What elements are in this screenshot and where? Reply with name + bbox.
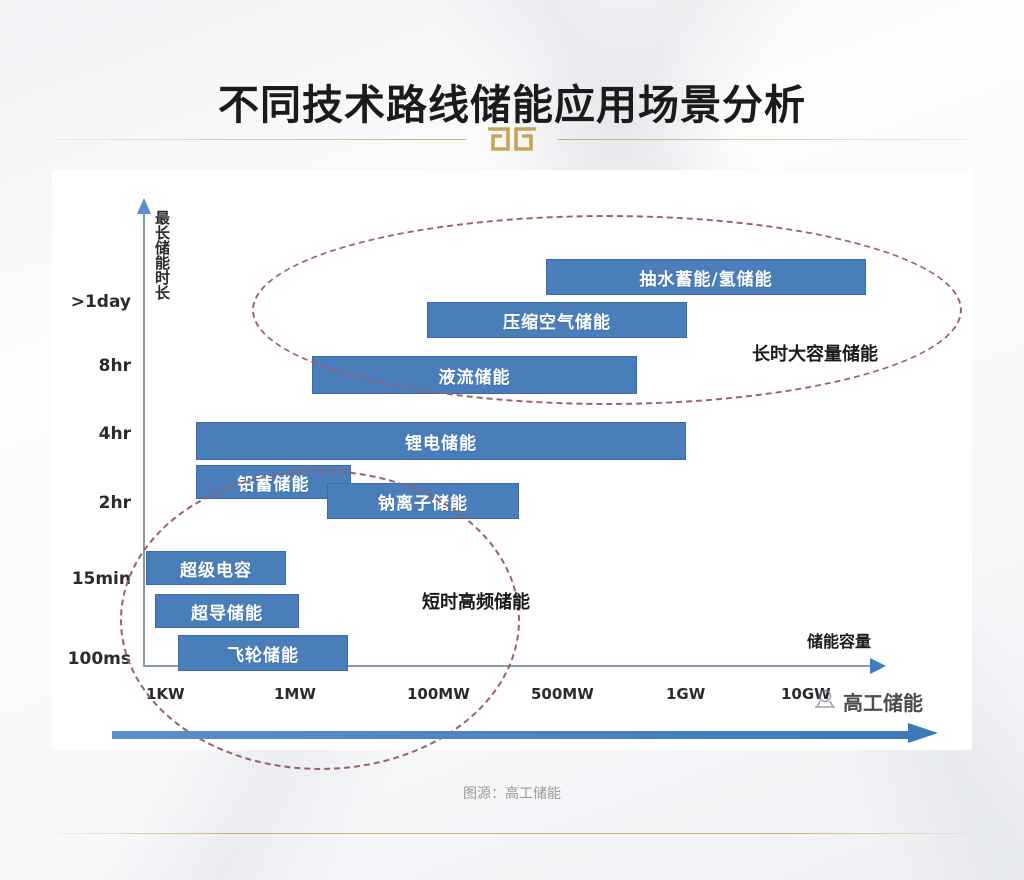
- footer-divider: [55, 833, 969, 834]
- x-tick-label: 500MW: [531, 685, 594, 703]
- x-tick-label: 1KW: [146, 685, 185, 703]
- y-tick-label: 100ms: [51, 649, 131, 669]
- x-tick-label: 1MW: [274, 685, 316, 703]
- source-caption: 图源：高工储能: [0, 783, 1024, 803]
- x-axis-arrow-icon: [870, 658, 886, 674]
- capacity-arrow-line: [112, 731, 912, 739]
- bar-sodium-ion[interactable]: 钠离子储能: [327, 483, 519, 519]
- y-tick-label: >1day: [51, 292, 131, 312]
- y-tick-label: 4hr: [51, 424, 131, 444]
- capacity-arrow-head-icon: [908, 723, 938, 743]
- greek-key-ornament-icon: [484, 125, 540, 153]
- annotation-long-duration: 长时大容量储能: [752, 340, 878, 366]
- divider-rule-left: [55, 139, 466, 140]
- chart-panel: 最长储能时长 储能容量 >1day 8hr 4hr 2hr 15min 100m…: [52, 170, 972, 750]
- bar-pumped-hydro-hydrogen[interactable]: 抽水蓄能/氢储能: [546, 259, 866, 295]
- y-axis-title: 最长储能时长: [152, 210, 172, 300]
- bar-supercapacitor[interactable]: 超级电容: [146, 551, 286, 585]
- x-tick-label: 1GW: [666, 685, 705, 703]
- capacity-direction-arrow: [112, 725, 942, 745]
- x-axis-title: 储能容量: [807, 628, 871, 652]
- watermark-text: 高工储能: [843, 687, 923, 716]
- gaogong-logo-icon: [812, 687, 838, 716]
- header-divider: [55, 138, 969, 140]
- plot-area: 最长储能时长 储能容量 >1day 8hr 4hr 2hr 15min 100m…: [52, 170, 972, 750]
- y-tick-label: 15min: [51, 569, 131, 589]
- y-tick-label: 8hr: [51, 356, 131, 376]
- watermark: 高工储能: [812, 687, 923, 716]
- x-tick-label: 100MW: [407, 685, 470, 703]
- bar-compressed-air[interactable]: 压缩空气储能: [427, 302, 687, 338]
- divider-rule-right: [558, 139, 969, 140]
- page-title: 不同技术路线储能应用场景分析: [0, 71, 1024, 131]
- bar-superconducting[interactable]: 超导储能: [155, 594, 299, 628]
- bar-flywheel[interactable]: 飞轮储能: [178, 635, 348, 671]
- bar-flow-battery[interactable]: 液流储能: [312, 356, 637, 394]
- y-tick-label: 2hr: [51, 493, 131, 513]
- bar-lithium[interactable]: 锂电储能: [196, 422, 686, 460]
- annotation-short-duration: 短时高频储能: [422, 588, 530, 614]
- y-axis-line: [143, 212, 145, 667]
